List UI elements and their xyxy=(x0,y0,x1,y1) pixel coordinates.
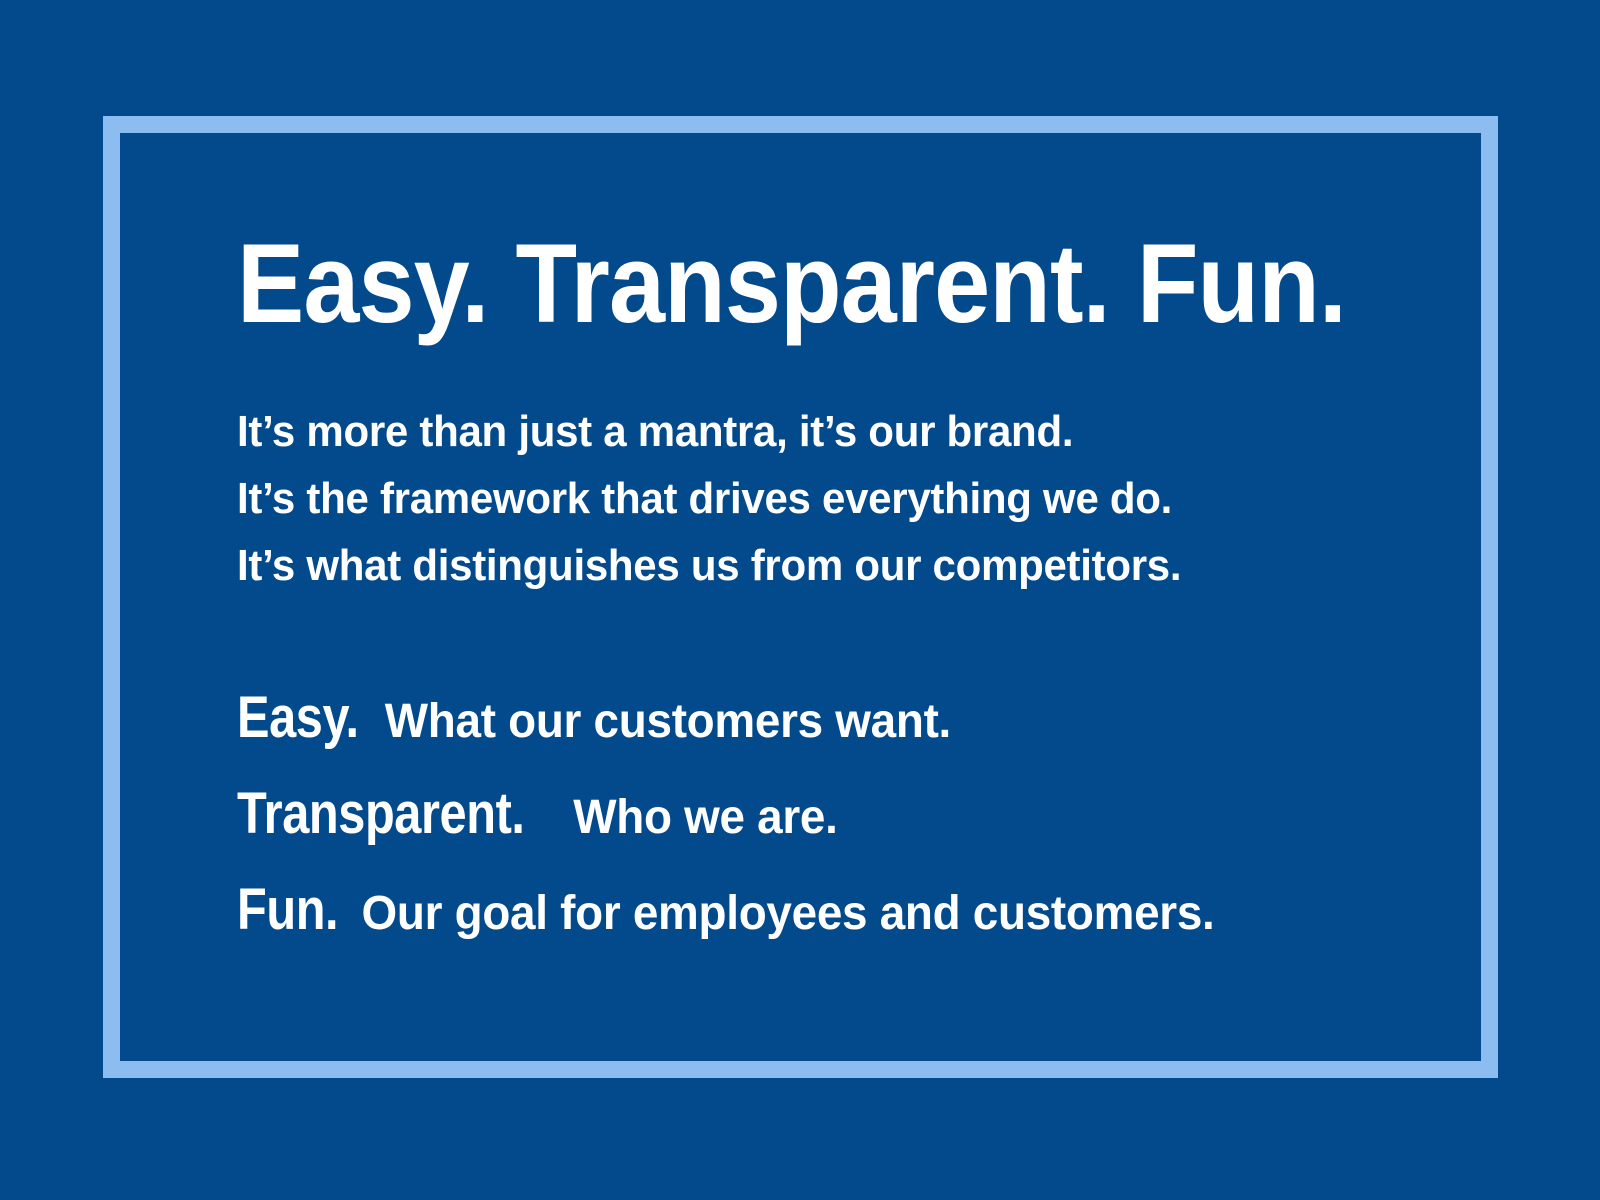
statement-easy-text: What our customers want. xyxy=(375,695,951,748)
intro-line-1: It’s more than just a mantra, it’s our b… xyxy=(237,398,1364,465)
statement-transparent-text: Who we are. xyxy=(564,791,838,844)
page-title: Easy. Transparent. Fun. xyxy=(237,230,1299,338)
statement-easy: Easy.What our customers want. xyxy=(237,677,1364,773)
slide-content: Easy. Transparent. Fun. It’s more than j… xyxy=(237,230,1417,965)
statement-list: Easy.What our customers want. Transparen… xyxy=(237,599,1417,965)
brand-mantra-slide: Easy. Transparent. Fun. It’s more than j… xyxy=(0,0,1600,1200)
intro-line-3: It’s what distinguishes us from our comp… xyxy=(237,532,1364,599)
statement-easy-lead: Easy. xyxy=(237,677,359,758)
statement-fun: Fun.Our goal for employees and customers… xyxy=(237,869,1364,965)
statement-fun-lead: Fun. xyxy=(237,869,338,950)
intro-line-2: It’s the framework that drives everythin… xyxy=(237,465,1364,532)
statement-fun-text: Our goal for employees and customers. xyxy=(352,887,1215,940)
intro-paragraph: It’s more than just a mantra, it’s our b… xyxy=(237,338,1364,599)
statement-transparent-lead: Transparent. xyxy=(237,773,525,854)
statement-transparent: Transparent.Who we are. xyxy=(237,773,1364,869)
